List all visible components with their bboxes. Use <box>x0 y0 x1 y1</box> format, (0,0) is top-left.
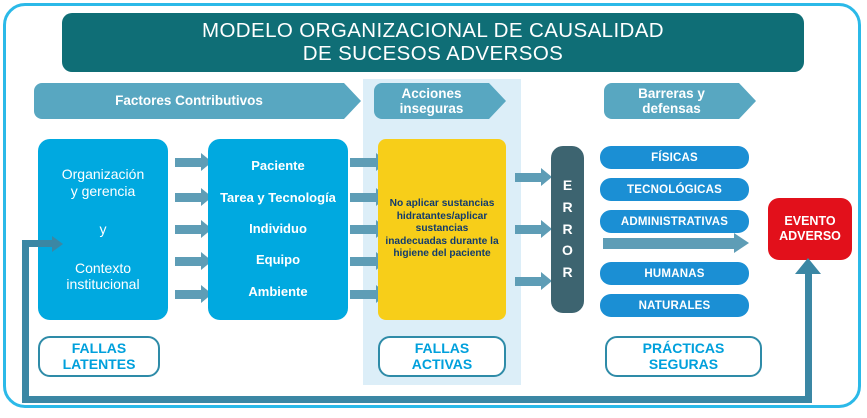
arrow-unsafe-to-error-3 <box>515 277 541 286</box>
org-box-line-1: Organización <box>62 166 145 182</box>
barrier-item-humanas: HUMANAS <box>600 262 749 285</box>
arrow-org-to-factor-1 <box>175 158 201 167</box>
barrier-item-fisicas: FÍSICAS <box>600 146 749 169</box>
factor-item: Ambiente <box>248 285 307 300</box>
banner-acciones-line-2: inseguras <box>400 101 464 116</box>
banner-barreras-line-1: Barreras y <box>638 86 705 101</box>
feedback-loop-top-segment <box>22 240 55 247</box>
factor-item: Individuo <box>249 222 307 237</box>
fallas-activas-line-2: ACTIVAS <box>412 357 472 373</box>
factor-item: Equipo <box>256 253 300 268</box>
error-letter: E <box>563 175 572 197</box>
page-title-line-1: MODELO ORGANIZACIONAL DE CAUSALIDAD <box>202 20 664 43</box>
arrow-org-to-factor-4 <box>175 257 201 266</box>
factor-item: Tarea y Tecnología <box>220 191 336 206</box>
arrow-barriers-to-adverse-event <box>603 238 734 249</box>
feedback-loop-right-segment <box>805 270 812 401</box>
diagram-title-banner: MODELO ORGANIZACIONAL DE CAUSALIDAD DE S… <box>62 13 804 72</box>
feedback-arrow-up-icon <box>795 258 821 274</box>
banner-barreras-y-defensas: Barreras y defensas <box>604 83 739 119</box>
practicas-seguras-line-1: PRÁCTICAS <box>643 341 725 357</box>
arrow-unsafe-to-error-2 <box>515 225 541 234</box>
org-box-line-2: y gerencia <box>71 183 136 199</box>
feedback-loop-bottom-segment <box>22 396 812 403</box>
label-fallas-activas: FALLAS ACTIVAS <box>378 336 506 377</box>
label-practicas-seguras: PRÁCTICAS SEGURAS <box>605 336 762 377</box>
banner-acciones-line-1: Acciones <box>401 86 461 101</box>
banner-factores-contributivos: Factores Contributivos <box>34 83 344 119</box>
error-letter: R <box>562 197 572 219</box>
error-letter: R <box>562 262 572 284</box>
adverse-event-line-1: EVENTO <box>784 214 835 229</box>
banner-acciones-inseguras: Acciones inseguras <box>374 83 489 119</box>
barrier-item-administrativas: ADMINISTRATIVAS <box>600 210 749 233</box>
contributive-factors-box: Paciente Tarea y Tecnología Individuo Eq… <box>208 139 348 320</box>
adverse-event-line-2: ADVERSO <box>779 229 841 244</box>
barrier-item-naturales: NATURALES <box>600 294 749 317</box>
error-letter: R <box>562 219 572 241</box>
arrow-org-to-factor-3 <box>175 225 201 234</box>
page-title-line-2: DE SUCESOS ADVERSOS <box>303 43 564 66</box>
adverse-event-box: EVENTO ADVERSO <box>768 198 852 260</box>
factor-item: Paciente <box>251 159 304 174</box>
feedback-arrow-right-icon <box>52 236 63 252</box>
banner-factores-label: Factores Contributivos <box>115 93 263 108</box>
banner-acciones-label: Acciones inseguras <box>400 86 464 116</box>
org-box-context: Contexto institucional <box>66 260 139 292</box>
arrow-factor-to-unsafe-3 <box>350 225 376 234</box>
arrow-unsafe-to-error-1 <box>515 173 541 182</box>
error-bar: E R R O R <box>551 146 584 313</box>
org-box-heading: Organización y gerencia <box>62 166 145 198</box>
fallas-latentes-line-2: LATENTES <box>63 357 136 373</box>
arrow-factor-to-unsafe-1 <box>350 158 376 167</box>
fallas-activas-line-1: FALLAS <box>415 341 469 357</box>
fallas-latentes-line-1: FALLAS <box>72 341 126 357</box>
unsafe-action-box: No aplicar sustancias hidratantes/aplica… <box>378 139 506 320</box>
arrow-org-to-factor-2 <box>175 193 201 202</box>
feedback-loop-left-segment <box>22 240 29 400</box>
arrow-org-to-factor-5 <box>175 290 201 299</box>
label-fallas-latentes: FALLAS LATENTES <box>38 336 160 377</box>
banner-barreras-line-2: defensas <box>642 101 701 116</box>
practicas-seguras-line-2: SEGURAS <box>649 357 718 373</box>
error-letter: O <box>562 240 573 262</box>
barrier-item-tecnologicas: TECNOLÓGICAS <box>600 178 749 201</box>
banner-barreras-label: Barreras y defensas <box>638 86 705 116</box>
arrow-factor-to-unsafe-5 <box>350 290 376 299</box>
organization-management-box: Organización y gerencia y Contexto insti… <box>38 139 168 320</box>
unsafe-action-text: No aplicar sustancias hidratantes/aplica… <box>384 198 500 260</box>
arrow-factor-to-unsafe-2 <box>350 193 376 202</box>
diagram-canvas: MODELO ORGANIZACIONAL DE CAUSALIDAD DE S… <box>0 0 867 418</box>
arrow-factor-to-unsafe-4 <box>350 257 376 266</box>
org-box-line-3: Contexto <box>75 260 131 276</box>
org-box-connector: y <box>100 221 107 237</box>
org-box-line-4: institucional <box>66 276 139 292</box>
